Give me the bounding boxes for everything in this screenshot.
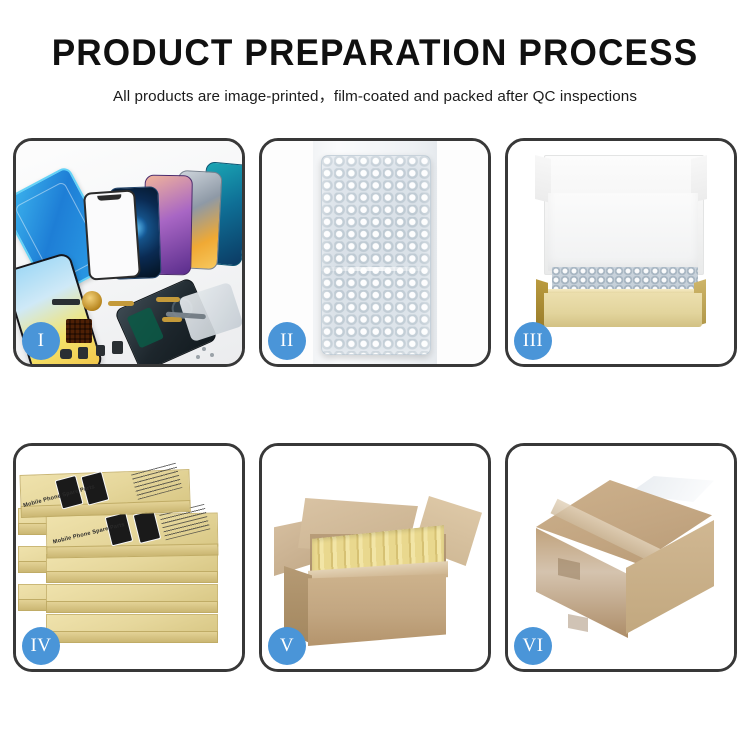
step-badge-1: I <box>22 322 60 360</box>
box-edge <box>46 601 218 613</box>
flex-cable-part-2-icon <box>156 297 180 302</box>
screw-icon <box>202 347 206 351</box>
bubble-wrap-seam <box>321 267 429 271</box>
screw-3-icon <box>196 355 200 359</box>
flex-cable-part-3-icon <box>162 317 182 322</box>
box-edge <box>46 631 218 643</box>
vibrator-part-icon <box>112 341 123 354</box>
bubble-wrap-icon <box>321 155 431 355</box>
flex-cable-part-icon <box>108 301 134 306</box>
step-panel-1[interactable]: I <box>13 138 245 367</box>
kraft-box-front-icon <box>544 293 702 327</box>
stacked-box-r5 <box>46 614 218 634</box>
button-part-icon <box>78 347 88 359</box>
stacked-box-r4 <box>46 584 218 604</box>
foam-sheet-icon <box>548 193 698 271</box>
step-badge-5: V <box>268 627 306 665</box>
stacked-box-labelled-1: Mobile Phone Spare Parts <box>19 469 190 509</box>
step-badge-3: III <box>514 322 552 360</box>
step-panel-6[interactable]: VI <box>505 443 737 672</box>
product-preparation-page: PRODUCT PREPARATION PROCESS All products… <box>0 0 750 750</box>
process-step-grid: I II III <box>13 138 737 672</box>
box-edge <box>46 571 218 583</box>
stacked-box-labelled-2: Mobile Phone Spare Parts <box>46 513 219 550</box>
step-panel-3[interactable]: III <box>505 138 737 367</box>
step-badge-2: II <box>268 322 306 360</box>
screw-2-icon <box>210 353 214 357</box>
speaker-part-icon <box>82 291 102 311</box>
step-panel-5[interactable]: V <box>259 443 491 672</box>
chip-grid-part-icon <box>66 319 92 343</box>
step-badge-6: VI <box>514 627 552 665</box>
step-panel-2[interactable]: II <box>259 138 491 367</box>
sim-tray-part-icon <box>96 345 105 356</box>
camera-part-icon <box>60 349 72 359</box>
page-header: PRODUCT PREPARATION PROCESS All products… <box>0 0 750 106</box>
page-subtitle: All products are image-printed，film-coat… <box>0 84 750 106</box>
antenna-part-icon <box>52 299 80 305</box>
tempered-glass-icon <box>83 189 141 280</box>
carton-front-face <box>308 574 446 646</box>
page-title: PRODUCT PREPARATION PROCESS <box>19 34 732 73</box>
step-panel-4[interactable]: Mobile Phone Spare Parts Mobile Phone Sp… <box>13 443 245 672</box>
carton-handle-tab-lower <box>568 614 588 632</box>
step-badge-4: IV <box>22 627 60 665</box>
